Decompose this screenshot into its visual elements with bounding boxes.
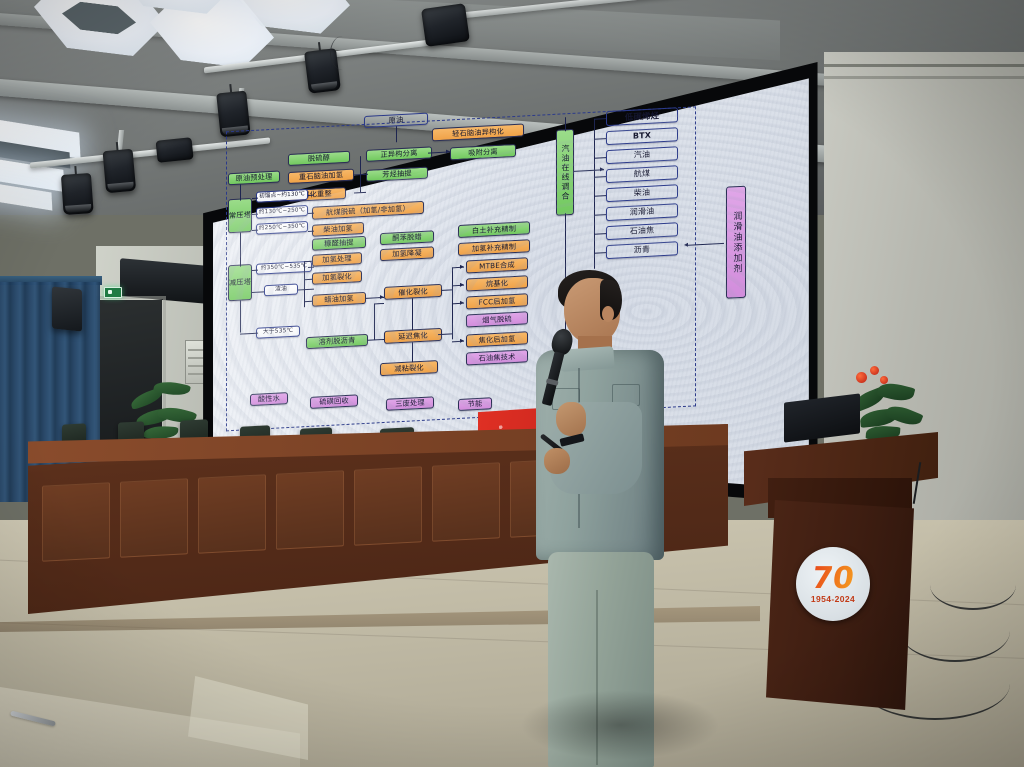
presenter-trouser-seam <box>596 590 598 765</box>
connector <box>412 342 413 362</box>
par-can-spotlight <box>102 141 136 193</box>
wall-trim <box>824 64 1024 67</box>
flower-bloom <box>880 376 888 384</box>
connector <box>240 233 241 267</box>
node-gasoline-online-blending: 汽油在线调合 <box>556 129 574 216</box>
presenter-hand-upper <box>556 402 586 436</box>
flower-leaf <box>885 402 924 429</box>
spotlight-body <box>156 137 194 163</box>
arrowhead <box>460 283 464 287</box>
connector <box>240 301 241 333</box>
arrowhead <box>380 295 384 299</box>
flower-bloom <box>856 372 867 383</box>
node-waste-treatment: 三废处理 <box>386 396 434 411</box>
exit-sign <box>104 287 122 298</box>
presenter <box>516 270 706 767</box>
arrowhead <box>460 339 464 343</box>
conference-room-photo: 原油 轻石脑油异构化 脱硫醇 正异构分离 吸附分离 原油预处理 重石脑油加氢 芳… <box>0 0 1024 767</box>
par-can-spotlight <box>60 165 93 215</box>
node-energy-saving: 节能 <box>458 397 492 411</box>
node-vacuum-tower: 减压塔 <box>228 264 252 301</box>
connector <box>412 298 413 330</box>
arrowhead <box>460 265 464 269</box>
presenter-trousers <box>548 552 654 767</box>
desk-panel <box>42 482 110 562</box>
spotlight-body <box>61 173 94 215</box>
spotlight-body <box>421 3 470 47</box>
product-bus <box>594 119 595 269</box>
anniversary-emblem: 70 1954-2024 <box>796 547 870 621</box>
connector <box>565 117 566 131</box>
wall-trim <box>824 76 1024 79</box>
desk-panel <box>276 470 344 550</box>
floor-cable <box>930 560 1016 610</box>
connector <box>374 303 375 339</box>
emblem-number: 70 <box>810 565 856 592</box>
desk-panel <box>120 478 188 558</box>
connector <box>360 156 361 192</box>
spotlight-lens <box>65 204 91 213</box>
par-can-spotlight <box>156 137 195 171</box>
connector <box>240 185 241 201</box>
node-sulfur-recovery: 硫磺回收 <box>310 394 358 409</box>
arrowhead <box>460 301 464 305</box>
arrowhead <box>684 243 688 247</box>
spotlight-lens <box>108 182 134 191</box>
par-can-spotlight <box>421 3 471 55</box>
arrowhead <box>446 149 450 153</box>
spotlight-body <box>103 149 137 193</box>
desk-panel <box>354 466 422 546</box>
connector <box>396 126 397 142</box>
node-residue: 渣油 <box>264 284 298 297</box>
presenter-ear <box>602 306 614 322</box>
flower-bloom <box>870 366 879 375</box>
node-sour-water: 酸性水 <box>250 392 288 406</box>
presenter-hand-lower <box>544 448 570 474</box>
node-lube-oil-additive: 润滑油添加剂 <box>726 186 746 299</box>
node-cut-5: 大于535℃ <box>256 325 300 338</box>
wall-speaker <box>52 286 82 331</box>
node-atmospheric-tower: 常压塔 <box>228 198 252 233</box>
desk-panel <box>198 474 266 554</box>
desk-panel <box>432 462 500 542</box>
arrowhead <box>600 167 604 171</box>
